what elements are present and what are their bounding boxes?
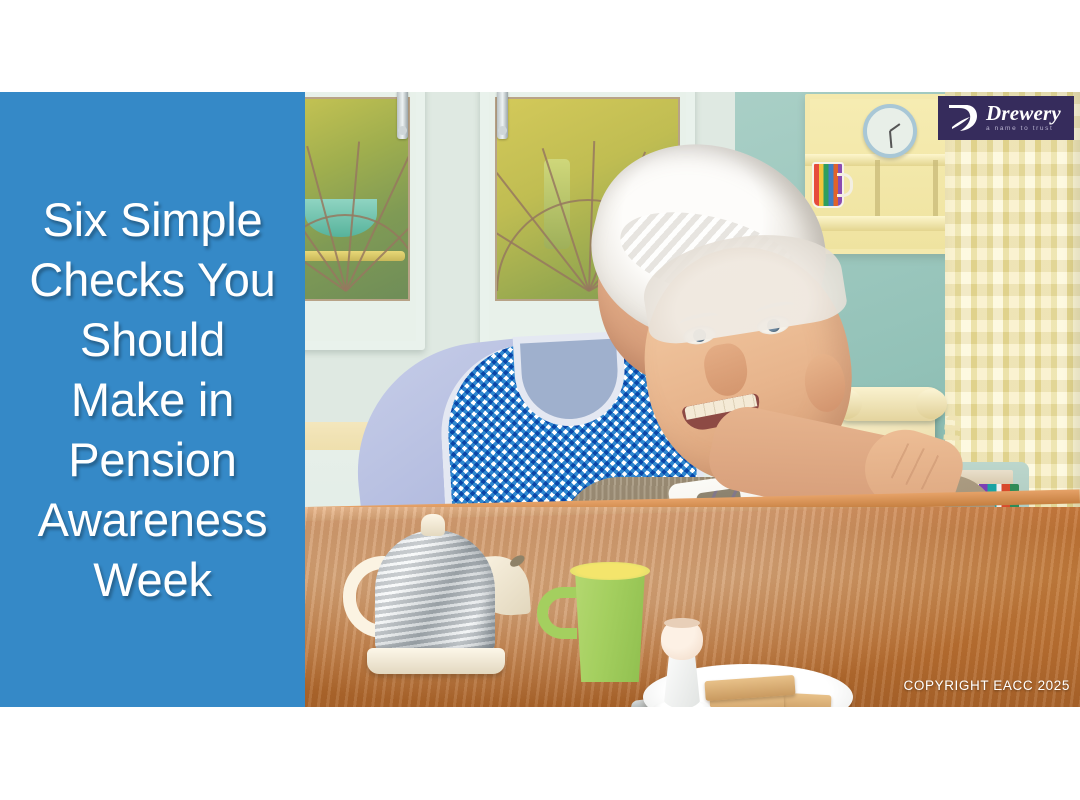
logo-tagline: a name to trust [986,126,1061,133]
leaded-glass-pane [305,97,410,301]
glass-cabinet-left [305,92,425,350]
green-mug [570,567,650,682]
green-mug-rim [570,562,650,580]
logo-name: Drewery [986,103,1061,124]
brand-logo[interactable]: Drewery a name to trust [938,96,1074,140]
clock-hour-hand [889,123,900,132]
copyright-notice: COPYRIGHT EACC 2025 [904,678,1070,693]
wall-clock-icon [863,104,917,158]
cabinet-handle[interactable] [497,92,508,139]
banner-root: Six Simple Checks You Should Make in Pen… [0,0,1080,800]
teapot [345,512,530,677]
shelf-divider [875,160,880,216]
teapot-base [367,648,505,674]
teapot-chrome-cosy [375,530,495,655]
boiled-egg [661,618,703,660]
cabinet-handle[interactable] [397,92,408,139]
drewery-swoosh-icon [946,103,980,133]
title-panel: Six Simple Checks You Should Make in Pen… [0,92,305,707]
clock-minute-hand [889,131,892,148]
striped-mug [812,162,844,208]
hero-photo: COPYRIGHT EACC 2025 [305,92,1080,707]
teapot-knob [421,514,445,536]
logo-text-block: Drewery a name to trust [986,103,1061,133]
page-title: Six Simple Checks You Should Make in Pen… [29,190,275,610]
shelf-divider [933,160,938,216]
